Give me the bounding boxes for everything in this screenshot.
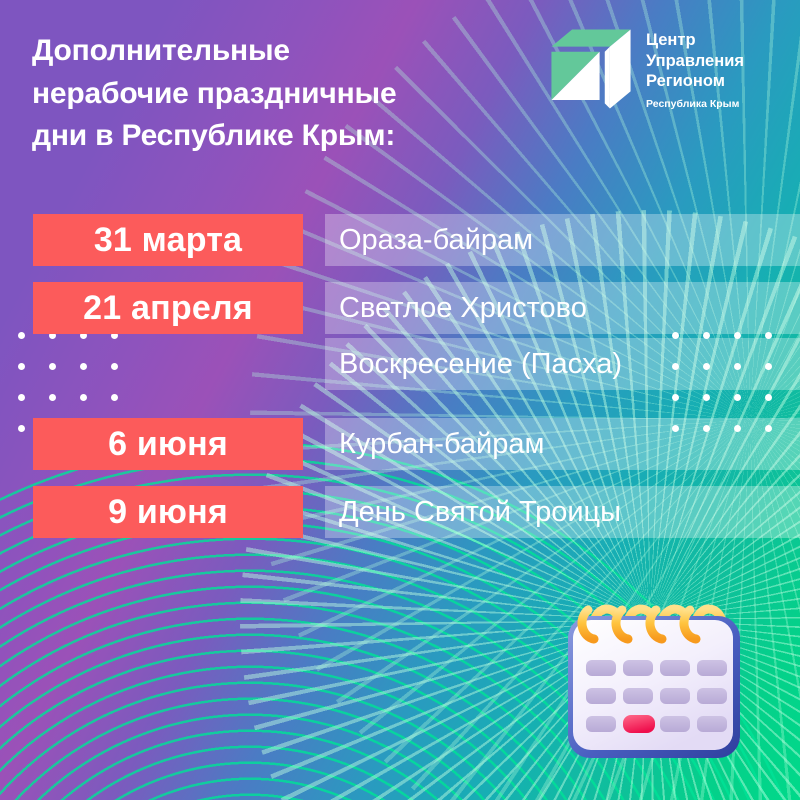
holiday-list: 31 марта Ораза-байрам 21 апреля Светлое … <box>0 205 800 545</box>
holiday-name-badge: Ораза-байрам <box>325 214 800 266</box>
holiday-name-badge-line-2: Воскресение (Пасха) <box>325 338 800 390</box>
holiday-row: 9 июня День Святой Троицы <box>0 477 800 545</box>
logo-subtitle: Республика Крым <box>646 98 744 110</box>
headline-line-2: нерабочие праздничные <box>32 73 532 116</box>
page-title: Дополнительные нерабочие праздничные дни… <box>32 30 532 158</box>
holiday-name-badge: Курбан-байрам <box>325 418 800 470</box>
organization-logo: Центр Управления Регионом Республика Кры… <box>548 26 744 112</box>
holiday-row: 21 апреля Светлое Христово Воскресение (… <box>0 273 800 409</box>
holiday-row: 31 марта Ораза-байрам <box>0 205 800 273</box>
headline-line-3: дни в Республике Крым: <box>32 115 532 158</box>
holiday-date-badge: 6 июня <box>33 418 303 470</box>
logo-title-line-3: Регионом <box>646 71 744 92</box>
header: Дополнительные нерабочие праздничные дни… <box>0 0 800 180</box>
headline-line-1: Дополнительные <box>32 30 532 73</box>
calendar-illustration <box>548 588 758 773</box>
logo-wordmark: Центр Управления Регионом Республика Кры… <box>646 26 744 110</box>
logo-title-line-1: Центр <box>646 30 744 51</box>
holiday-date-badge: 31 марта <box>33 214 303 266</box>
calendar-icon <box>548 588 758 773</box>
holiday-date-badge: 21 апреля <box>33 282 303 334</box>
calendar-highlighted-day <box>623 715 655 733</box>
logo-title-line-2: Управления <box>646 51 744 72</box>
holiday-date-badge: 9 июня <box>33 486 303 538</box>
cur-cube-logo-icon <box>548 26 634 112</box>
infographic-poster: Дополнительные нерабочие праздничные дни… <box>0 0 800 800</box>
holiday-name-badge-line-1: Светлое Христово <box>325 282 800 334</box>
holiday-name-badge: День Святой Троицы <box>325 486 800 538</box>
holiday-row: 6 июня Курбан-байрам <box>0 409 800 477</box>
